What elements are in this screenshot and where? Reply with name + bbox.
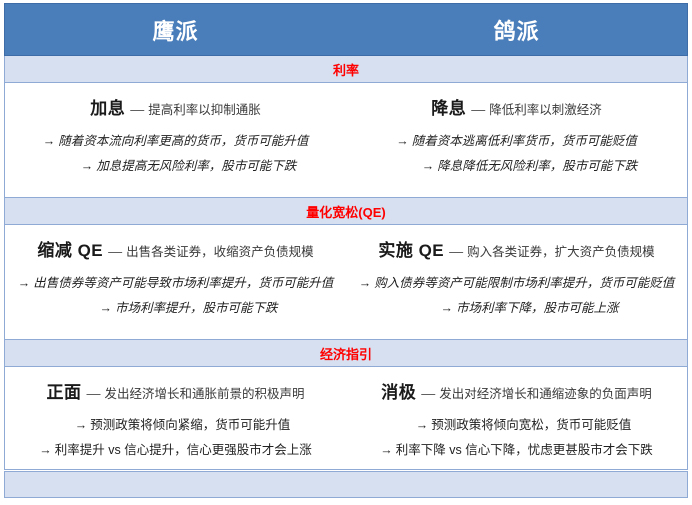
- bullet-item: →随着资本逃离低利率货币，货币可能贬值: [352, 130, 681, 149]
- gloss-label: 出售各类证券，收缩资产负债规模: [126, 245, 314, 259]
- section-band-interest-rate: 利率: [4, 56, 688, 83]
- em-dash-icon: —: [108, 243, 121, 259]
- headline-dovish-quantitative-easing: 实施 QE—购入各类证券，扩大资产负债规模: [352, 236, 681, 261]
- column-header-hawkish: 鹰派: [5, 4, 346, 55]
- em-dash-icon: —: [421, 385, 434, 401]
- column-header-dovish: 鸽派: [346, 4, 687, 55]
- gloss-label: 提高利率以抑制通胀: [148, 103, 261, 117]
- arrow-icon: →: [39, 443, 52, 457]
- term-label: 加息: [90, 99, 125, 118]
- bullet-text: 利率提升 vs 信心提升，信心更强股市才会上涨: [55, 443, 312, 457]
- bullet-text: 利率下降 vs 信心下降，忧虑更甚股市才会下跌: [396, 443, 653, 457]
- bullet-list: →随着资本逃离低利率货币，货币可能贬值 →降息降低无风险利率，股市可能下跌: [352, 130, 681, 174]
- arrow-icon: →: [416, 418, 429, 432]
- gloss-label: 降低利率以刺激经济: [489, 103, 602, 117]
- bullet-text: 市场利率提升，股市可能下跌: [115, 301, 278, 315]
- cell-dovish-quantitative-easing: 实施 QE—购入各类证券，扩大资产负债规模 →购入债券等资产可能限制市场利率提升…: [346, 225, 687, 339]
- bullet-text: 随着资本流向利率更高的货币，货币可能升值: [58, 134, 308, 148]
- section-row-quantitative-easing: 缩减 QE—出售各类证券，收缩资产负债规模 →出售债券等资产可能导致市场利率提升…: [4, 225, 688, 340]
- gloss-label: 发出对经济增长和通缩迹象的负面声明: [439, 387, 652, 401]
- bullet-list: →预测政策将倾向紧缩，货币可能升值 →利率提升 vs 信心提升，信心更强股市才会…: [11, 414, 340, 458]
- section-row-economic-guidance: 正面—发出经济增长和通胀前景的积极声明 →预测政策将倾向紧缩，货币可能升值 →利…: [4, 367, 688, 470]
- section-title-economic-guidance: 经济指引: [320, 344, 372, 363]
- cell-hawkish-economic-guidance: 正面—发出经济增长和通胀前景的积极声明 →预测政策将倾向紧缩，货币可能升值 →利…: [5, 367, 346, 469]
- arrow-icon: →: [81, 159, 94, 173]
- column-header-dovish-label: 鸽派: [493, 14, 539, 46]
- term-label: 缩减 QE: [37, 241, 103, 260]
- bullet-text: 随着资本逃离低利率货币，货币可能贬值: [412, 134, 637, 148]
- bullet-text: 预测政策将倾向紧缩，货币可能升值: [90, 418, 290, 432]
- em-dash-icon: —: [449, 243, 462, 259]
- bullet-text: 降息降低无风险利率，股市可能下跌: [437, 159, 637, 173]
- bullet-text: 加息提高无风险利率，股市可能下跌: [96, 159, 296, 173]
- headline-hawkish-economic-guidance: 正面—发出经济增长和通胀前景的积极声明: [11, 378, 340, 403]
- bullet-item: →利率提升 vs 信心提升，信心更强股市才会上涨: [11, 439, 340, 458]
- arrow-icon: →: [75, 418, 88, 432]
- headline-dovish-economic-guidance: 消极—发出对经济增长和通缩迹象的负面声明: [352, 378, 681, 403]
- gloss-label: 购入各类证券，扩大资产负债规模: [467, 245, 655, 259]
- arrow-icon: →: [380, 443, 393, 457]
- bullet-item: →加息提高无风险利率，股市可能下跌: [11, 155, 340, 174]
- column-header-hawkish-label: 鹰派: [152, 14, 198, 46]
- section-title-quantitative-easing: 量化宽松(QE): [306, 202, 385, 221]
- section-title-interest-rate: 利率: [333, 60, 359, 79]
- term-label: 正面: [46, 383, 81, 402]
- footer-band: [4, 471, 688, 498]
- bullet-item: →市场利率下降，股市可能上涨: [352, 297, 681, 316]
- section-row-interest-rate: 加息—提高利率以抑制通胀 →随着资本流向利率更高的货币，货币可能升值 →加息提高…: [4, 83, 688, 198]
- hawkish-dovish-comparison-table: 鹰派 鸽派 利率 加息—提高利率以抑制通胀 →随着资本流向利率更高的货币，货币可…: [4, 3, 688, 498]
- gloss-label: 发出经济增长和通胀前景的积极声明: [104, 387, 304, 401]
- cell-hawkish-interest-rate: 加息—提高利率以抑制通胀 →随着资本流向利率更高的货币，货币可能升值 →加息提高…: [5, 83, 346, 197]
- headline-hawkish-quantitative-easing: 缩减 QE—出售各类证券，收缩资产负债规模: [11, 236, 340, 261]
- arrow-icon: →: [43, 134, 56, 148]
- section-band-quantitative-easing: 量化宽松(QE): [4, 198, 688, 225]
- bullet-list: →预测政策将倾向宽松，货币可能贬值 →利率下降 vs 信心下降，忧虑更甚股市才会…: [352, 414, 681, 458]
- bullet-item: →利率下降 vs 信心下降，忧虑更甚股市才会下跌: [352, 439, 681, 458]
- section-band-economic-guidance: 经济指引: [4, 340, 688, 367]
- bullet-item: →预测政策将倾向紧缩，货币可能升值: [11, 414, 340, 433]
- bullet-item: →降息降低无风险利率，股市可能下跌: [352, 155, 681, 174]
- arrow-icon: →: [396, 134, 409, 148]
- bullet-text: 出售债券等资产可能导致市场利率提升，货币可能升值: [33, 276, 333, 290]
- em-dash-icon: —: [86, 385, 99, 401]
- arrow-icon: →: [99, 301, 112, 315]
- bullet-text: 预测政策将倾向宽松，货币可能贬值: [431, 418, 631, 432]
- arrow-icon: →: [422, 159, 435, 173]
- headline-dovish-interest-rate: 降息—降低利率以刺激经济: [352, 94, 681, 119]
- em-dash-icon: —: [471, 101, 484, 117]
- cell-dovish-interest-rate: 降息—降低利率以刺激经济 →随着资本逃离低利率货币，货币可能贬值 →降息降低无风…: [346, 83, 687, 197]
- bullet-text: 市场利率下降，股市可能上涨: [456, 301, 619, 315]
- arrow-icon: →: [359, 276, 372, 290]
- bullet-item: →预测政策将倾向宽松，货币可能贬值: [352, 414, 681, 433]
- bullet-item: →出售债券等资产可能导致市场利率提升，货币可能升值: [11, 272, 340, 291]
- bullet-text: 购入债券等资产可能限制市场利率提升，货币可能贬值: [374, 276, 674, 290]
- cell-hawkish-quantitative-easing: 缩减 QE—出售各类证券，收缩资产负债规模 →出售债券等资产可能导致市场利率提升…: [5, 225, 346, 339]
- term-label: 降息: [431, 99, 466, 118]
- table-header-row: 鹰派 鸽派: [4, 3, 688, 56]
- term-label: 实施 QE: [378, 241, 444, 260]
- bullet-list: →出售债券等资产可能导致市场利率提升，货币可能升值 →市场利率提升，股市可能下跌: [11, 272, 340, 316]
- bullet-list: →购入债券等资产可能限制市场利率提升，货币可能贬值 →市场利率下降，股市可能上涨: [352, 272, 681, 316]
- bullet-item: →随着资本流向利率更高的货币，货币可能升值: [11, 130, 340, 149]
- bullet-list: →随着资本流向利率更高的货币，货币可能升值 →加息提高无风险利率，股市可能下跌: [11, 130, 340, 174]
- headline-hawkish-interest-rate: 加息—提高利率以抑制通胀: [11, 94, 340, 119]
- term-label: 消极: [381, 383, 416, 402]
- bullet-item: →市场利率提升，股市可能下跌: [11, 297, 340, 316]
- bullet-item: →购入债券等资产可能限制市场利率提升，货币可能贬值: [352, 272, 681, 291]
- arrow-icon: →: [440, 301, 453, 315]
- em-dash-icon: —: [130, 101, 143, 117]
- cell-dovish-economic-guidance: 消极—发出对经济增长和通缩迹象的负面声明 →预测政策将倾向宽松，货币可能贬值 →…: [346, 367, 687, 469]
- arrow-icon: →: [18, 276, 31, 290]
